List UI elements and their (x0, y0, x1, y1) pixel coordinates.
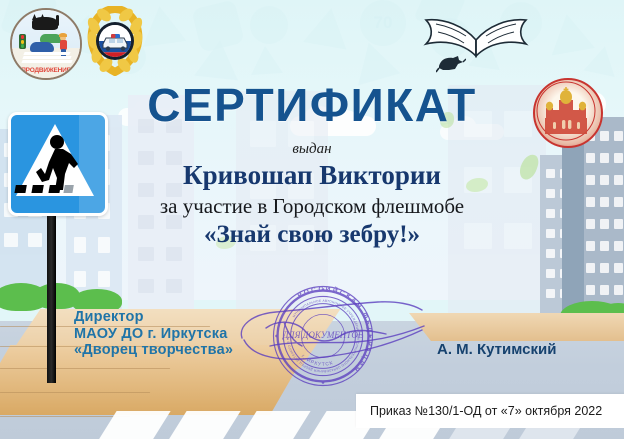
awarded-label: выдан (0, 141, 624, 158)
babr-cat-icon (436, 52, 466, 74)
pavement-line-4 (0, 392, 150, 393)
pavement-line-3 (0, 368, 170, 369)
prodvizhenie-logo: ПРОДВИЖЕНИЕ (10, 8, 82, 80)
pavement-line-5 (0, 416, 130, 417)
recipient-name: Кривошап Виктории (0, 160, 624, 191)
signature-role-line-2: МАОУ ДО г. Иркутска (74, 326, 233, 343)
signer-name: А. М. Кутимский (437, 341, 556, 358)
gibdd-emblem (84, 6, 146, 76)
event-name: «Знай свою зебру!» (0, 221, 624, 249)
award-reason: за участие в Городском флешмобе (0, 194, 624, 219)
signature-role-block: Директор МАОУ ДО г. Иркутска «Дворец тво… (74, 309, 233, 359)
handwritten-signature (236, 300, 436, 370)
speed-limit-watermark: 70 (360, 13, 406, 33)
signature-role-line-3: «Дворец творчества» (74, 342, 233, 359)
order-reference-box: Приказ №130/1-ОД от «7» октября 2022 (356, 394, 624, 428)
page-title: СЕРТИФИКАТ (0, 78, 624, 132)
car-icon-blue (30, 42, 54, 52)
signature-role-line-1: Директор (74, 309, 233, 326)
department-of-education-logo: ДЕПАРТАМЕНТ ОБРАЗОВАНИЯ АДМИНИСТРАЦИИ г.… (418, 14, 558, 76)
prodvizhenie-caption: ПРОДВИЖЕНИЕ (12, 67, 80, 74)
order-reference-text: Приказ №130/1-ОД от «7» октября 2022 (370, 404, 602, 418)
certificate-canvas: 70 (0, 0, 624, 439)
pavement-right-wedge (409, 313, 624, 341)
